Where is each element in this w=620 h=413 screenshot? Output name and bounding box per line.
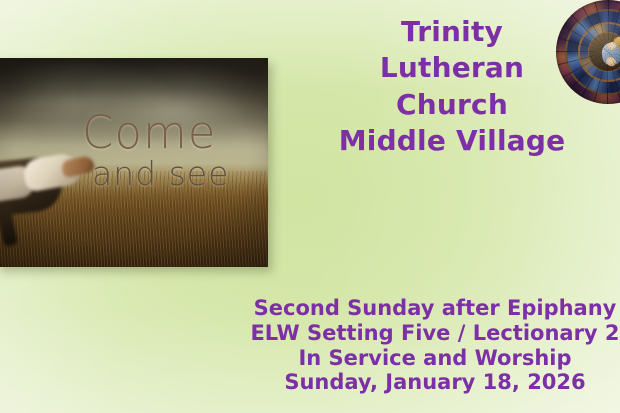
service-line-day: Second Sunday after Epiphany <box>175 296 620 321</box>
church-name-line-4: Middle Village <box>252 123 620 159</box>
service-line-setting: ELW Setting Five / Lectionary 2 <box>175 321 620 346</box>
come-and-see-photo: Come and see <box>0 58 268 267</box>
service-line-worship: In Service and Worship <box>175 346 620 371</box>
photo-caption-line-2: and see <box>92 157 262 190</box>
nativity-figure-mary-face <box>608 42 616 50</box>
photo-caption-line-1: Come <box>82 110 262 155</box>
worship-slide: Come and see Trinity Lutheran Church Mid… <box>0 0 620 413</box>
service-line-date: Sunday, January 18, 2026 <box>175 370 620 395</box>
photo-caption: Come and see <box>82 110 262 190</box>
rose-window-nativity-scene <box>588 32 620 72</box>
stained-glass-rose-window-icon <box>556 0 620 104</box>
nativity-figure-infant <box>605 56 617 67</box>
service-details: Second Sunday after Epiphany ELW Setting… <box>175 296 620 395</box>
